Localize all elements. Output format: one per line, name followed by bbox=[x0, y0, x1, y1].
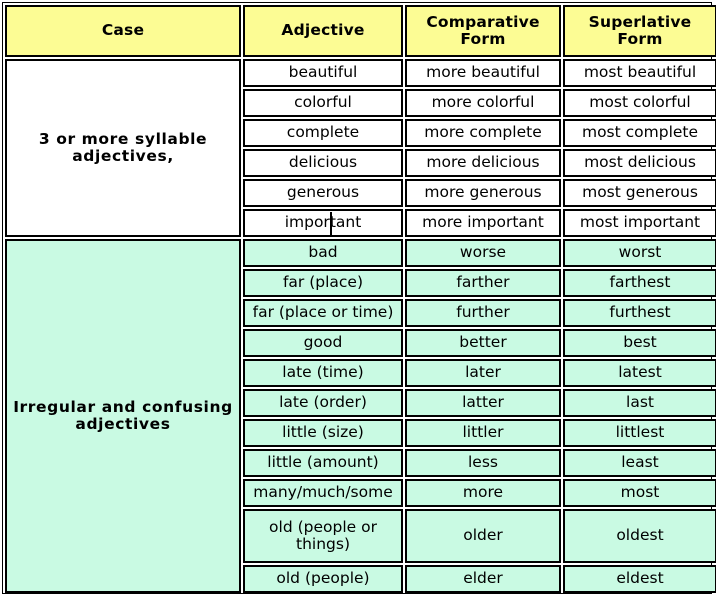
superlative-cell: latest bbox=[563, 359, 716, 387]
adjective-text-before-caret: impor bbox=[285, 213, 330, 231]
adjective-cell: late (time) bbox=[243, 359, 403, 387]
table-row: Irregular and confusingadjectivesbadwors… bbox=[5, 239, 716, 267]
adjective-cell: little (size) bbox=[243, 419, 403, 447]
superlative-cell: most colorful bbox=[563, 89, 716, 117]
case-category-cell: 3 or more syllableadjectives, bbox=[5, 59, 241, 237]
superlative-cell: most generous bbox=[563, 179, 716, 207]
comparative-cell: more delicious bbox=[405, 149, 561, 177]
adjective-cell-line1: old (people or bbox=[247, 519, 399, 536]
superlative-cell: most delicious bbox=[563, 149, 716, 177]
text-cursor-caret bbox=[330, 212, 332, 234]
case-category-cell: Irregular and confusingadjectives bbox=[5, 239, 241, 593]
adjective-forms-table: CaseAdjectiveComparativeFormSuperlativeF… bbox=[3, 3, 716, 595]
case-category-line1: Irregular and confusing bbox=[9, 399, 237, 416]
comparative-cell: better bbox=[405, 329, 561, 357]
comparative-cell: latter bbox=[405, 389, 561, 417]
superlative-cell: farthest bbox=[563, 269, 716, 297]
comparative-cell: less bbox=[405, 449, 561, 477]
column-header-line2: Form bbox=[567, 31, 713, 48]
table-header-row: CaseAdjectiveComparativeFormSuperlativeF… bbox=[5, 5, 716, 57]
adjective-cell-text: important bbox=[285, 214, 362, 231]
column-header-line1: Comparative bbox=[409, 14, 557, 31]
comparative-cell: littler bbox=[405, 419, 561, 447]
adjective-cell: far (place or time) bbox=[243, 299, 403, 327]
column-header-super: SuperlativeForm bbox=[563, 5, 716, 57]
superlative-cell: eldest bbox=[563, 565, 716, 593]
adjective-cell: delicious bbox=[243, 149, 403, 177]
table-row: 3 or more syllableadjectives,beautifulmo… bbox=[5, 59, 716, 87]
adjective-cell: bad bbox=[243, 239, 403, 267]
superlative-cell: most bbox=[563, 479, 716, 507]
comparative-cell: further bbox=[405, 299, 561, 327]
table-frame: CaseAdjectiveComparativeFormSuperlativeF… bbox=[2, 2, 712, 594]
comparative-cell: worse bbox=[405, 239, 561, 267]
comparative-cell: more bbox=[405, 479, 561, 507]
superlative-cell: last bbox=[563, 389, 716, 417]
column-header-line1: Superlative bbox=[567, 14, 713, 31]
superlative-cell: littlest bbox=[563, 419, 716, 447]
case-category-line2: adjectives bbox=[9, 416, 237, 433]
comparative-cell: more colorful bbox=[405, 89, 561, 117]
superlative-cell: furthest bbox=[563, 299, 716, 327]
comparative-cell: more beautiful bbox=[405, 59, 561, 87]
column-header-case: Case bbox=[5, 5, 241, 57]
column-header-adj: Adjective bbox=[243, 5, 403, 57]
superlative-cell: least bbox=[563, 449, 716, 477]
adjective-cell: beautiful bbox=[243, 59, 403, 87]
superlative-cell: worst bbox=[563, 239, 716, 267]
adjective-cell: little (amount) bbox=[243, 449, 403, 477]
superlative-cell: most beautiful bbox=[563, 59, 716, 87]
superlative-cell: best bbox=[563, 329, 716, 357]
comparative-cell: more generous bbox=[405, 179, 561, 207]
adjective-cell: complete bbox=[243, 119, 403, 147]
comparative-cell: later bbox=[405, 359, 561, 387]
adjective-cell-line2: things) bbox=[247, 536, 399, 553]
adjective-cell: old (people) bbox=[243, 565, 403, 593]
comparative-cell: older bbox=[405, 509, 561, 563]
adjective-cell: old (people orthings) bbox=[243, 509, 403, 563]
case-category-line1: 3 or more syllable bbox=[9, 131, 237, 148]
superlative-cell: most complete bbox=[563, 119, 716, 147]
adjective-cell: colorful bbox=[243, 89, 403, 117]
comparative-cell: more important bbox=[405, 209, 561, 237]
adjective-cell: important bbox=[243, 209, 403, 237]
adjective-cell: late (order) bbox=[243, 389, 403, 417]
comparative-cell: elder bbox=[405, 565, 561, 593]
case-category-line2: adjectives, bbox=[9, 148, 237, 165]
column-header-comp: ComparativeForm bbox=[405, 5, 561, 57]
adjective-cell: good bbox=[243, 329, 403, 357]
superlative-cell: most important bbox=[563, 209, 716, 237]
adjective-cell: far (place) bbox=[243, 269, 403, 297]
column-header-line2: Form bbox=[409, 31, 557, 48]
superlative-cell: oldest bbox=[563, 509, 716, 563]
comparative-cell: farther bbox=[405, 269, 561, 297]
adjective-cell: many/much/some bbox=[243, 479, 403, 507]
comparative-cell: more complete bbox=[405, 119, 561, 147]
adjective-cell: generous bbox=[243, 179, 403, 207]
adjective-text-after-caret: tant bbox=[330, 213, 361, 231]
